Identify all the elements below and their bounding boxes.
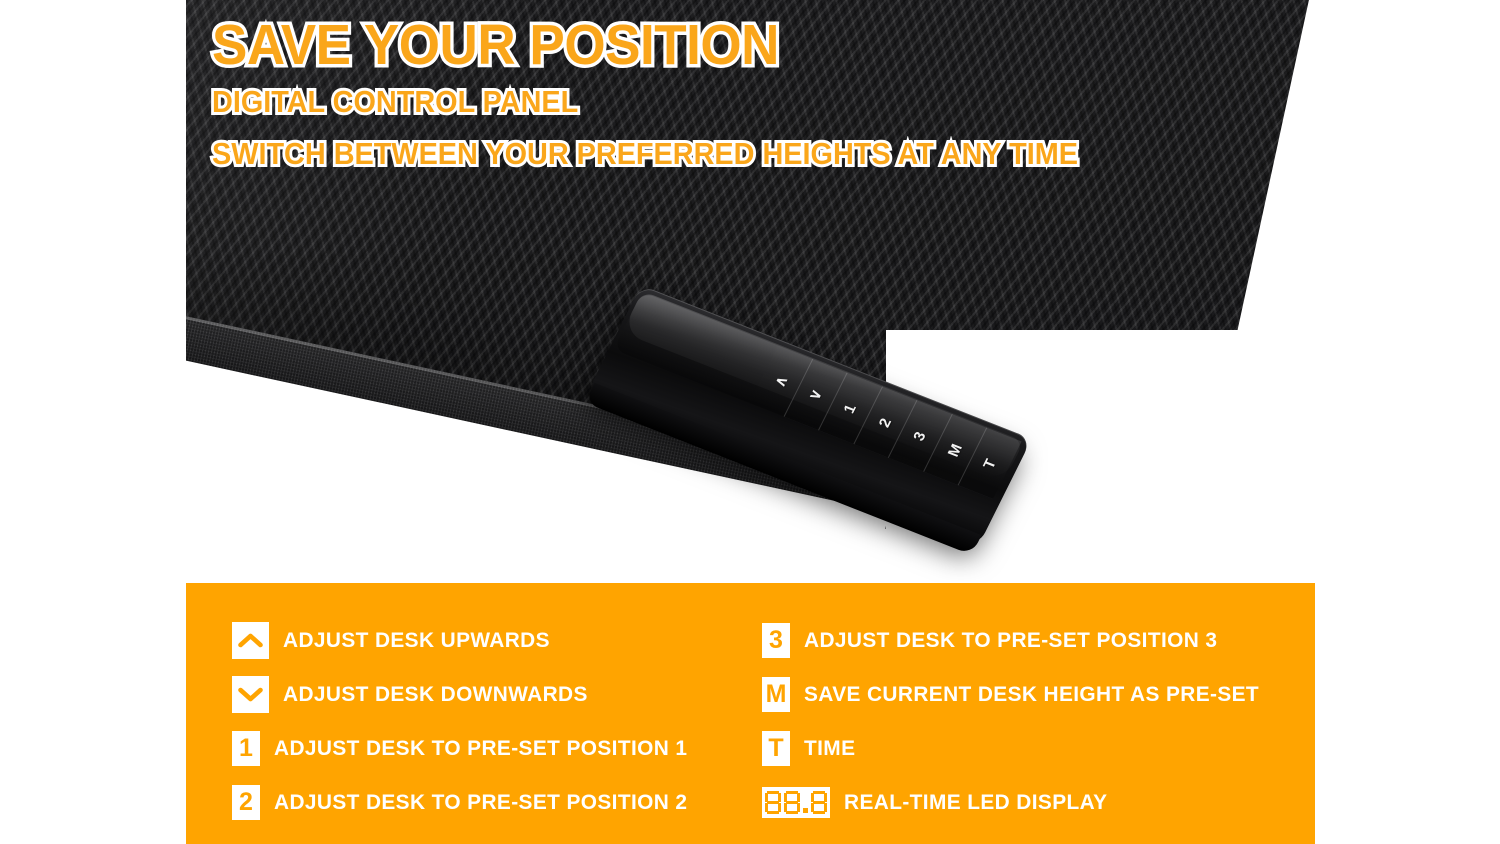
preset-2-glyph: 2 <box>239 790 253 815</box>
panel-key-t-label: T <box>980 456 1000 471</box>
panel-key-m-label: M <box>945 441 967 459</box>
legend-item-adjust-down: ADJUST DESK DOWNWARDS <box>232 667 772 721</box>
led-digit-3 <box>811 791 827 814</box>
led-display-icon <box>762 787 830 818</box>
control-panel-display-area <box>613 292 778 403</box>
legend-item-preset-3: 3 ADJUST DESK TO PRE-SET POSITION 3 <box>762 613 1312 667</box>
panel-key-up-label: ∧ <box>770 372 792 389</box>
led-segments <box>765 791 827 814</box>
legend-item-led-display: REAL-TIME LED DISPLAY <box>762 775 1312 829</box>
time-glyph: T <box>768 736 783 761</box>
page-title: SAVE YOUR POSITION <box>212 12 1226 78</box>
memory-icon: M <box>762 677 790 712</box>
legend-item-label: ADJUST DESK TO PRE-SET POSITION 3 <box>804 628 1217 653</box>
led-digit-1 <box>765 791 781 814</box>
legend-item-time: T TIME <box>762 721 1312 775</box>
legend-item-label: REAL-TIME LED DISPLAY <box>844 790 1107 815</box>
legend-item-label: SAVE CURRENT DESK HEIGHT AS PRE-SET <box>804 682 1259 707</box>
page-tagline: SWITCH BETWEEN YOUR PREFERRED HEIGHTS AT… <box>212 126 1226 182</box>
legend-item-preset-2: 2 ADJUST DESK TO PRE-SET POSITION 2 <box>232 775 772 829</box>
legend-item-adjust-up: ADJUST DESK UPWARDS <box>232 613 772 667</box>
product-feature-banner: ∧ ∨ 1 2 3 M T SAVE YOUR POSITION DIGITAL… <box>0 0 1500 844</box>
control-panel-body[interactable]: ∧ ∨ 1 2 3 M T <box>587 285 1032 547</box>
preset-1-glyph: 1 <box>239 736 253 761</box>
headline-block: SAVE YOUR POSITION DIGITAL CONTROL PANEL… <box>212 12 1302 182</box>
preset-2-icon: 2 <box>232 785 260 820</box>
panel-key-2-label: 2 <box>876 415 896 429</box>
legend-item-label: ADJUST DESK TO PRE-SET POSITION 2 <box>274 790 687 815</box>
legend-item-label: ADJUST DESK UPWARDS <box>283 628 550 653</box>
legend-item-label: ADJUST DESK DOWNWARDS <box>283 682 588 707</box>
time-icon: T <box>762 731 790 766</box>
legend-item-preset-1: 1 ADJUST DESK TO PRE-SET POSITION 1 <box>232 721 772 775</box>
legend-item-label: TIME <box>804 736 855 761</box>
page-subtitle: DIGITAL CONTROL PANEL <box>212 78 1226 126</box>
preset-3-icon: 3 <box>762 623 790 658</box>
legend-panel: ADJUST DESK UPWARDS ADJUST DESK DOWNWARD… <box>186 583 1315 844</box>
chevron-up-icon <box>232 622 269 659</box>
panel-key-1-label: 1 <box>841 401 861 415</box>
panel-key-3-label: 3 <box>911 429 931 443</box>
panel-key-down-label: ∨ <box>805 386 827 403</box>
legend-column-right: 3 ADJUST DESK TO PRE-SET POSITION 3 M SA… <box>762 613 1312 829</box>
preset-1-icon: 1 <box>232 731 260 766</box>
memory-glyph: M <box>766 682 787 707</box>
chevron-down-icon <box>232 676 269 713</box>
led-digit-2 <box>784 791 800 814</box>
legend-column-left: ADJUST DESK UPWARDS ADJUST DESK DOWNWARD… <box>232 613 772 829</box>
preset-3-glyph: 3 <box>769 628 783 653</box>
led-decimal-point <box>803 808 808 813</box>
legend-item-memory: M SAVE CURRENT DESK HEIGHT AS PRE-SET <box>762 667 1312 721</box>
legend-item-label: ADJUST DESK TO PRE-SET POSITION 1 <box>274 736 687 761</box>
control-panel-assembly: ∧ ∨ 1 2 3 M T <box>641 285 1081 560</box>
